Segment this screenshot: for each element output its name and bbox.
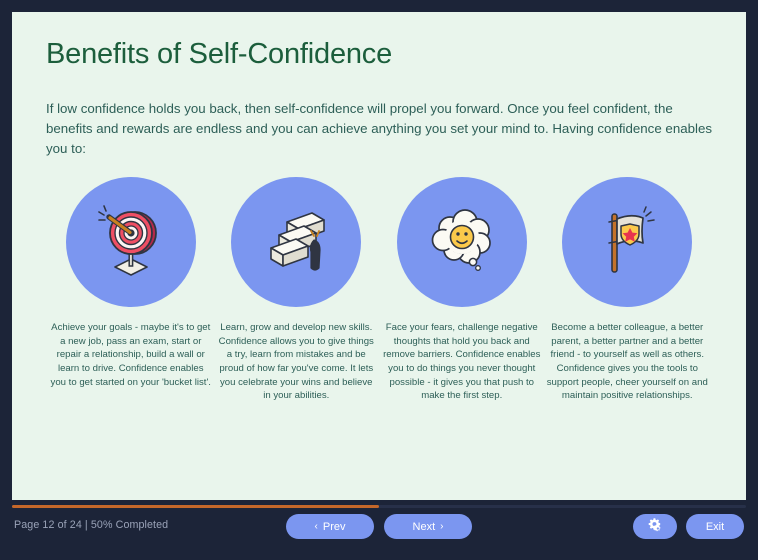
gears-icon — [647, 517, 663, 536]
stairs-steps-icon — [254, 200, 338, 284]
player-footer: Page 12 of 24 | 50% Completed ‹ Prev Nex… — [0, 500, 758, 560]
exit-button-label: Exit — [706, 521, 724, 533]
thought-bubble-smiley-icon — [420, 200, 504, 284]
prev-button[interactable]: ‹ Prev — [286, 514, 374, 539]
page-status-text: Page 12 of 24 | 50% Completed — [14, 519, 168, 531]
flag-badge-icon — [585, 200, 669, 284]
page-title: Benefits of Self-Confidence — [46, 38, 712, 71]
benefit-caption: Achieve your goals - maybe it's to get a… — [48, 321, 214, 389]
chevron-left-icon: ‹ — [315, 522, 318, 532]
prev-button-label: Prev — [323, 521, 346, 533]
intro-paragraph: If low confidence holds you back, then s… — [46, 99, 712, 159]
next-button[interactable]: Next › — [384, 514, 472, 539]
benefit-icon-circle — [397, 177, 527, 307]
benefit-icon-circle — [562, 177, 692, 307]
exit-button[interactable]: Exit — [686, 514, 744, 539]
next-button-label: Next — [413, 521, 436, 533]
benefit-item: Become a better colleague, a better pare… — [545, 177, 711, 403]
benefits-list: Achieve your goals - maybe it's to get a… — [46, 177, 712, 403]
progress-bar[interactable] — [12, 505, 746, 508]
benefit-caption: Learn, grow and develop new skills. Conf… — [214, 321, 380, 403]
benefit-icon-circle — [231, 177, 361, 307]
slide-panel: Benefits of Self-Confidence If low confi… — [12, 12, 746, 500]
footer-controls: Page 12 of 24 | 50% Completed ‹ Prev Nex… — [0, 512, 758, 546]
benefit-item: Learn, grow and develop new skills. Conf… — [214, 177, 380, 403]
benefit-icon-circle — [66, 177, 196, 307]
footer-actions: Exit — [633, 514, 744, 539]
course-player: Benefits of Self-Confidence If low confi… — [0, 0, 758, 560]
progress-bar-fill — [12, 505, 379, 508]
target-arrow-icon — [89, 200, 173, 284]
benefit-item: Achieve your goals - maybe it's to get a… — [48, 177, 214, 403]
benefit-caption: Face your fears, challenge negative thou… — [379, 321, 545, 403]
benefit-caption: Become a better colleague, a better pare… — [545, 321, 711, 403]
benefit-item: Face your fears, challenge negative thou… — [379, 177, 545, 403]
chevron-right-icon: › — [440, 522, 443, 532]
settings-button[interactable] — [633, 514, 677, 539]
navigation-buttons: ‹ Prev Next › — [286, 514, 472, 539]
